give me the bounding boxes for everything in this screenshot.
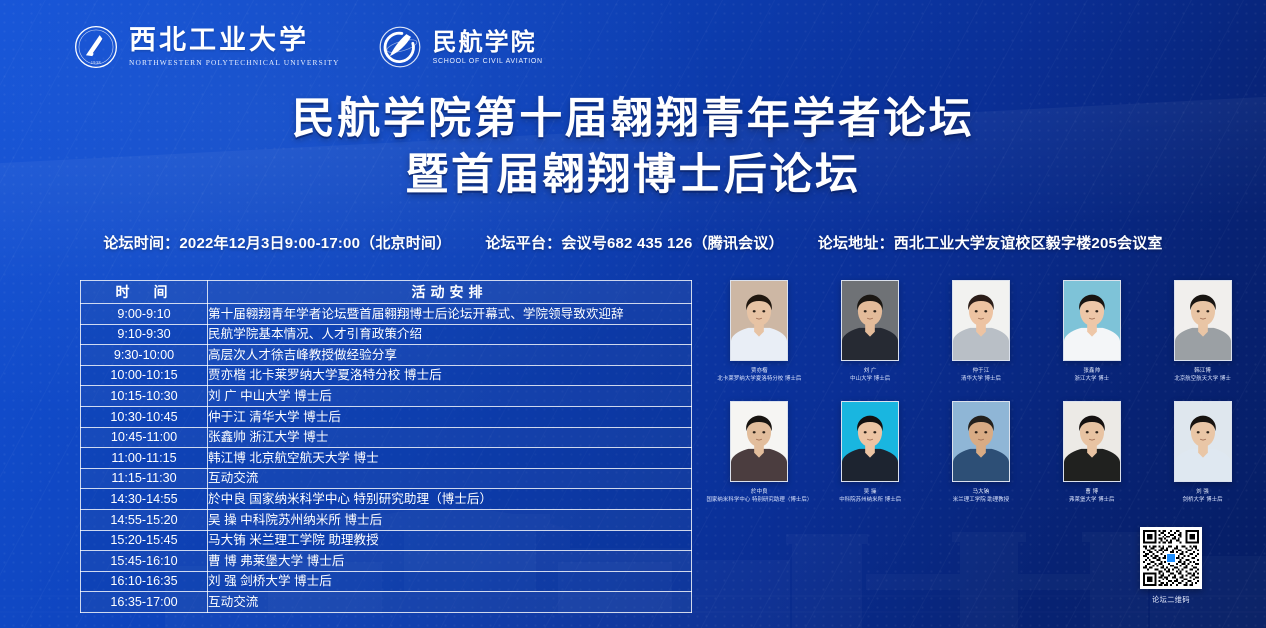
logo-npu: 1938 西北工业大学 NORTHWESTERN POLYTECHNICAL U…	[74, 25, 340, 69]
schedule-row-activity: 民航学院基本情况、人才引育政策介绍	[208, 324, 692, 345]
schedule-row-time: 14:55-15:20	[81, 509, 208, 530]
schedule-row-activity: 刘 广 中山大学 博士后	[208, 386, 692, 407]
schedule-row-activity: 马大铕 米兰理工学院 助理教授	[208, 530, 692, 551]
schedule-row-time: 10:15-10:30	[81, 386, 208, 407]
info-platform-value: 会议号682 435 126（腾讯会议）	[561, 235, 783, 252]
schedule-row-activity: 吴 操 中科院苏州纳米所 博士后	[208, 509, 692, 530]
schedule-row-activity: 张鑫帅 浙江大学 博士	[208, 427, 692, 448]
logo-bar: 1938 西北工业大学 NORTHWESTERN POLYTECHNICAL U…	[74, 16, 543, 78]
schedule-row-activity: 刘 强 剑桥大学 博士后	[208, 571, 692, 592]
speaker-name: 曹 博	[1085, 488, 1098, 496]
speaker-portrait	[1063, 401, 1121, 482]
speaker-card: 曹 博弗莱堡大学 博士后	[1036, 401, 1147, 522]
schedule-row-activity: 贾亦楷 北卡莱罗纳大学夏洛特分校 博士后	[208, 365, 692, 386]
schedule-row-time: 16:10-16:35	[81, 571, 208, 592]
speaker-name: 於中良	[751, 488, 768, 496]
speaker-affiliation: 米兰理工学院 助理教授	[953, 496, 1010, 504]
speaker-card: 张鑫帅浙江大学 博士	[1036, 280, 1147, 401]
schedule-row-time: 9:10-9:30	[81, 324, 208, 345]
speaker-card: 吴 操中科院苏州纳米所 博士后	[815, 401, 926, 522]
speaker-affiliation: 浙江大学 博士	[1075, 375, 1110, 383]
info-time: 论坛时间：2022年12月3日9:00-17:00（北京时间）	[103, 232, 451, 253]
schedule-row-time: 15:45-16:10	[81, 551, 208, 572]
info-platform: 论坛平台：会议号682 435 126（腾讯会议）	[485, 232, 783, 253]
svg-text:1938: 1938	[91, 60, 101, 65]
speaker-portrait	[952, 280, 1010, 361]
schedule-head: 时 间 活动安排	[81, 281, 692, 304]
speaker-affiliation: 北京航空航天大学 博士	[1174, 375, 1231, 383]
schedule-row-time: 16:35-17:00	[81, 592, 208, 613]
speaker-name: 刘 强	[1196, 488, 1209, 496]
speaker-grid: 贾亦楷北卡莱罗纳大学夏洛特分校 博士后刘 广中山大学 博士后仲于江清华大学 博士…	[704, 280, 1258, 522]
speaker-portrait	[1174, 280, 1232, 361]
speaker-name: 韩江博	[1194, 367, 1211, 375]
schedule-row-activity: 韩江博 北京航空航天大学 博士	[208, 448, 692, 469]
schedule-row-time: 15:20-15:45	[81, 530, 208, 551]
speaker-portrait	[841, 280, 899, 361]
qr-label: 论坛二维码	[1140, 595, 1202, 605]
speaker-affiliation: 北卡莱罗纳大学夏洛特分校 博士后	[717, 375, 801, 383]
schedule-row: 9:00-9:10第十届翱翔青年学者论坛暨首届翱翔博士后论坛开幕式、学院领导致欢…	[81, 304, 692, 325]
speaker-portrait	[841, 401, 899, 482]
speaker-card: 仲于江清华大学 博士后	[926, 280, 1037, 401]
schedule-row-activity: 曹 博 弗莱堡大学 博士后	[208, 551, 692, 572]
logo-ca-cn: 民航学院	[433, 29, 543, 54]
schedule-row-time: 10:00-10:15	[81, 365, 208, 386]
info-platform-label: 论坛平台：	[485, 235, 561, 252]
schedule-row-time: 9:30-10:00	[81, 345, 208, 366]
schedule-row: 10:30-10:45仲于江 清华大学 博士后	[81, 406, 692, 427]
schedule-row-time: 14:30-14:55	[81, 489, 208, 510]
info-address-value: 西北工业大学友谊校区毅字楼205会议室	[894, 235, 1163, 252]
info-address-label: 论坛地址：	[818, 235, 894, 252]
schedule-row-activity: 互动交流	[208, 592, 692, 613]
npu-seal-icon: 1938	[74, 25, 118, 69]
schedule-row: 11:00-11:15韩江博 北京航空航天大学 博士	[81, 448, 692, 469]
speaker-portrait	[730, 401, 788, 482]
title-line-1: 民航学院第十届翱翔青年学者论坛	[0, 92, 1266, 148]
speaker-portrait	[1174, 401, 1232, 482]
schedule-row: 16:10-16:35刘 强 剑桥大学 博士后	[81, 571, 692, 592]
schedule-row: 15:45-16:10曹 博 弗莱堡大学 博士后	[81, 551, 692, 572]
logo-civil-aviation: 民航学院 SCHOOL OF CIVIL AVIATION	[378, 25, 543, 69]
schedule-row: 11:15-11:30互动交流	[81, 468, 692, 489]
speaker-name: 张鑫帅	[1083, 367, 1100, 375]
speaker-card: 刘 广中山大学 博士后	[815, 280, 926, 401]
schedule-row-time: 10:45-11:00	[81, 427, 208, 448]
schedule-row: 15:20-15:45马大铕 米兰理工学院 助理教授	[81, 530, 692, 551]
schedule-col-time: 时 间	[81, 281, 208, 304]
forum-qr-code[interactable]	[1140, 527, 1202, 589]
speaker-card: 韩江博北京航空航天大学 博士	[1147, 280, 1258, 401]
speaker-name: 刘 广	[864, 367, 877, 375]
schedule-header-row: 时 间 活动安排	[81, 281, 692, 304]
info-time-label: 论坛时间：	[103, 235, 179, 252]
speaker-card: 马大铕米兰理工学院 助理教授	[926, 401, 1037, 522]
speaker-name: 马大铕	[973, 488, 990, 496]
speaker-affiliation: 中科院苏州纳米所 博士后	[839, 496, 901, 504]
info-address: 论坛地址：西北工业大学友谊校区毅字楼205会议室	[818, 232, 1163, 253]
speaker-card: 贾亦楷北卡莱罗纳大学夏洛特分校 博士后	[704, 280, 815, 401]
qr-block: 论坛二维码	[1140, 527, 1202, 605]
info-time-value: 2022年12月3日9:00-17:00（北京时间）	[179, 235, 451, 252]
schedule-row: 9:30-10:00高层次人才徐吉峰教授做经验分享	[81, 345, 692, 366]
schedule-row-activity: 第十届翱翔青年学者论坛暨首届翱翔博士后论坛开幕式、学院领导致欢迎辞	[208, 304, 692, 325]
speaker-card: 刘 强剑桥大学 博士后	[1147, 401, 1258, 522]
speaker-affiliation: 国家纳米科学中心 特别研究助理（博士后）	[706, 496, 812, 504]
schedule-row: 10:45-11:00张鑫帅 浙江大学 博士	[81, 427, 692, 448]
logo-ca-en: SCHOOL OF CIVIL AVIATION	[433, 58, 543, 65]
speaker-affiliation: 清华大学 博士后	[961, 375, 1001, 383]
schedule-col-activity: 活动安排	[208, 281, 692, 304]
schedule-row: 14:55-15:20吴 操 中科院苏州纳米所 博士后	[81, 509, 692, 530]
speaker-affiliation: 中山大学 博士后	[850, 375, 890, 383]
speaker-affiliation: 弗莱堡大学 博士后	[1069, 496, 1115, 504]
speaker-name: 吴 操	[864, 488, 877, 496]
speaker-affiliation: 剑桥大学 博士后	[1183, 496, 1223, 504]
speaker-name: 仲于江	[973, 367, 990, 375]
speaker-portrait	[1063, 280, 1121, 361]
speaker-portrait	[952, 401, 1010, 482]
schedule-row-time: 11:15-11:30	[81, 468, 208, 489]
schedule-row-time: 9:00-9:10	[81, 304, 208, 325]
info-bar: 论坛时间：2022年12月3日9:00-17:00（北京时间） 论坛平台：会议号…	[0, 232, 1266, 253]
logo-npu-cn: 西北工业大学	[129, 27, 340, 55]
schedule-row: 16:35-17:00互动交流	[81, 592, 692, 613]
poster-title: 民航学院第十届翱翔青年学者论坛 暨首届翱翔博士后论坛	[0, 92, 1266, 204]
schedule-row: 9:10-9:30民航学院基本情况、人才引育政策介绍	[81, 324, 692, 345]
schedule-table: 时 间 活动安排 9:00-9:10第十届翱翔青年学者论坛暨首届翱翔博士后论坛开…	[80, 280, 692, 613]
schedule-row-time: 10:30-10:45	[81, 406, 208, 427]
poster-canvas: 1938 西北工业大学 NORTHWESTERN POLYTECHNICAL U…	[0, 0, 1266, 628]
logo-npu-en: NORTHWESTERN POLYTECHNICAL UNIVERSITY	[129, 58, 340, 67]
schedule-row-activity: 仲于江 清华大学 博士后	[208, 406, 692, 427]
speaker-name: 贾亦楷	[751, 367, 768, 375]
schedule-row: 10:00-10:15贾亦楷 北卡莱罗纳大学夏洛特分校 博士后	[81, 365, 692, 386]
schedule-row-activity: 互动交流	[208, 468, 692, 489]
schedule-row-activity: 高层次人才徐吉峰教授做经验分享	[208, 345, 692, 366]
schedule-row-activity: 於中良 国家纳米科学中心 特别研究助理（博士后）	[208, 489, 692, 510]
qr-icon	[1143, 530, 1199, 586]
title-line-2: 暨首届翱翔博士后论坛	[0, 148, 1266, 204]
schedule-row: 14:30-14:55於中良 国家纳米科学中心 特别研究助理（博士后）	[81, 489, 692, 510]
speaker-portrait	[730, 280, 788, 361]
schedule-row: 10:15-10:30刘 广 中山大学 博士后	[81, 386, 692, 407]
schedule-body: 9:00-9:10第十届翱翔青年学者论坛暨首届翱翔博士后论坛开幕式、学院领导致欢…	[81, 304, 692, 613]
civil-aviation-seal-icon	[378, 25, 422, 69]
speaker-card: 於中良国家纳米科学中心 特别研究助理（博士后）	[704, 401, 815, 522]
schedule-row-time: 11:00-11:15	[81, 448, 208, 469]
